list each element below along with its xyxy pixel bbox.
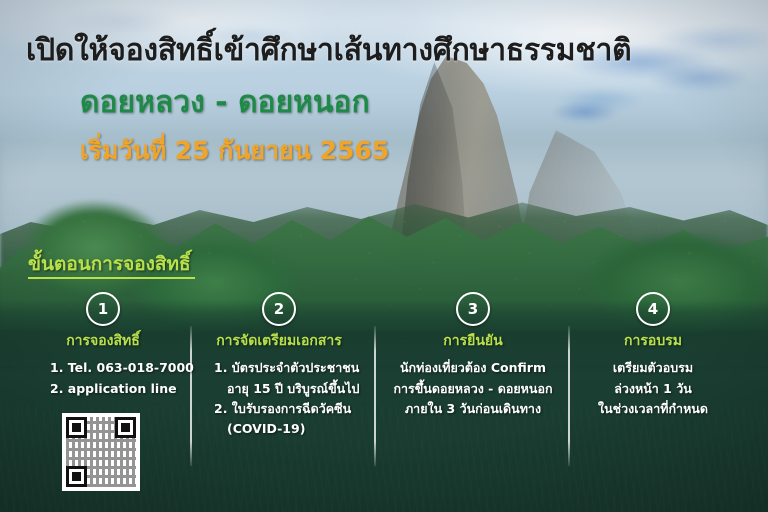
- qr-finder-bottom-left: [66, 466, 87, 487]
- step-line: เตรียมตัวอบรม: [574, 358, 732, 378]
- step-item-3: 3 การยืนยัน นักท่องเที่ยวต้อง Confirm กา…: [382, 292, 564, 419]
- step-title-1: การจองสิทธิ์: [24, 334, 182, 349]
- qr-code-icon[interactable]: [62, 413, 140, 491]
- step-line: ล่วงหน้า 1 วัน: [574, 379, 732, 399]
- step-line: การขึ้นดอยหลวง - ดอยหนอก: [382, 379, 564, 399]
- step-divider-3: [568, 326, 570, 466]
- step-title-3: การยืนยัน: [382, 334, 564, 349]
- step-body-1: 1. Tel. 063-018-7000 2. application line: [24, 358, 182, 399]
- step-divider-1: [190, 326, 192, 466]
- poster-content: เปิดให้จองสิทธิ์เข้าศึกษาเส้นทางศึกษาธรร…: [0, 0, 768, 512]
- poster-root: เปิดให้จองสิทธิ์เข้าศึกษาเส้นทางศึกษาธรร…: [0, 0, 768, 512]
- step-line: 1. บัตรประจำตัวประชาชน: [214, 358, 358, 378]
- step-title-2: การจัดเตรียมเอกสาร: [200, 334, 358, 349]
- qr-code-pattern: [66, 417, 136, 487]
- step-line: นักท่องเที่ยวต้อง Confirm: [382, 358, 564, 378]
- step-body-4: เตรียมตัวอบรม ล่วงหน้า 1 วัน ในช่วงเวลาท…: [574, 358, 732, 419]
- step-number-badge-1: 1: [86, 292, 120, 326]
- poster-start-date: เริ่มวันที่ 25 กันยายน 2565: [80, 138, 389, 163]
- qr-finder-top-left: [66, 417, 87, 438]
- step-item-4: 4 การอบรม เตรียมตัวอบรม ล่วงหน้า 1 วัน ใ…: [574, 292, 732, 419]
- step-body-2: 1. บัตรประจำตัวประชาชน อายุ 15 ปี บริบูร…: [200, 358, 358, 439]
- poster-subtitle: ดอยหลวง - ดอยหนอก: [80, 88, 370, 118]
- step-line: ภายใน 3 วันก่อนเดินทาง: [382, 399, 564, 419]
- qr-finder-top-right: [115, 417, 136, 438]
- step-number-badge-3: 3: [456, 292, 490, 326]
- step-line: 2. ใบรับรองการฉีดวัคซีน: [214, 399, 358, 419]
- step-body-3: นักท่องเที่ยวต้อง Confirm การขึ้นดอยหลวง…: [382, 358, 564, 419]
- step-line: อายุ 15 ปี บริบูรณ์ขึ้นไป: [214, 379, 358, 399]
- step-divider-2: [374, 326, 376, 466]
- step-number-badge-2: 2: [262, 292, 296, 326]
- step-line: 1. Tel. 063-018-7000: [50, 358, 182, 378]
- step-item-1: 1 การจองสิทธิ์ 1. Tel. 063-018-7000 2. a…: [24, 292, 182, 399]
- step-title-4: การอบรม: [574, 334, 732, 349]
- steps-section-heading: ขั้นตอนการจองสิทธิ์: [28, 255, 191, 274]
- step-number-badge-4: 4: [636, 292, 670, 326]
- step-item-2: 2 การจัดเตรียมเอกสาร 1. บัตรประจำตัวประช…: [200, 292, 358, 439]
- step-line: (COVID-19): [214, 419, 358, 439]
- poster-headline: เปิดให้จองสิทธิ์เข้าศึกษาเส้นทางศึกษาธรร…: [26, 36, 631, 66]
- step-line: 2. application line: [50, 379, 182, 399]
- step-line: ในช่วงเวลาที่กำหนด: [574, 399, 732, 419]
